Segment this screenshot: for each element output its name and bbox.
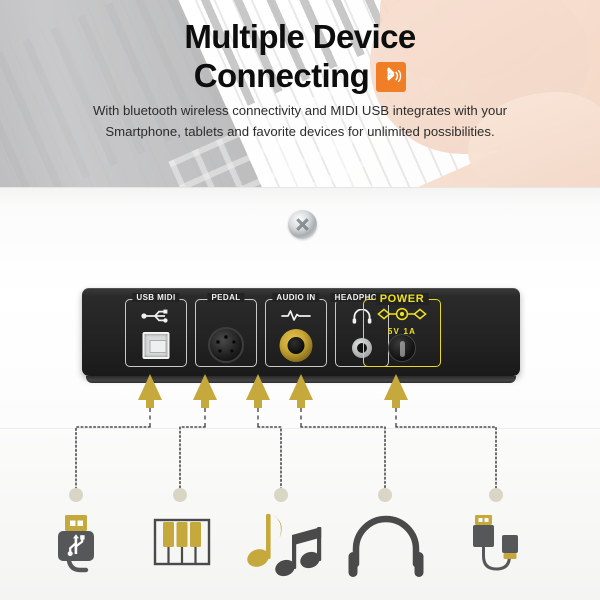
page-title: Multiple Device Connecting <box>0 18 600 95</box>
port-label-audio-in: AUDIO IN <box>272 293 319 302</box>
port-group-audio-in[interactable]: AUDIO IN <box>265 299 327 367</box>
port-label-pedal: PEDAL <box>207 293 244 302</box>
hero-subtitle: With bluetooth wireless connectivity and… <box>80 100 520 143</box>
port-label-power: POWER <box>376 293 429 305</box>
port-group-power[interactable]: POWER 5V 1A <box>363 299 441 367</box>
panel-shadow-lip <box>86 376 516 383</box>
music-notes-icon <box>238 508 328 578</box>
dc-barrel-jack[interactable] <box>388 334 416 362</box>
usb-b-jack[interactable] <box>143 332 170 359</box>
rear-jack-panel: USB MIDI PEDAL <box>82 288 520 376</box>
din-5-pin-jack[interactable] <box>208 327 244 363</box>
dc-polarity-icon <box>375 307 429 326</box>
hero-title-line-2: Connecting <box>194 57 369 94</box>
hero-title-line-1: Multiple Device <box>0 18 600 57</box>
port-group-pedal[interactable]: PEDAL <box>195 299 257 367</box>
quarter-inch-jack[interactable] <box>280 329 313 362</box>
hero-banner: Multiple Device Connecting With bluetoot… <box>0 0 600 187</box>
promo-page: Multiple Device Connecting With bluetoot… <box>0 0 600 600</box>
piano-keys-icon <box>137 512 227 582</box>
bluetooth-icon <box>376 62 406 92</box>
power-cable-icon <box>453 508 543 578</box>
port-group-usb-midi[interactable]: USB MIDI <box>125 299 187 367</box>
usb-trident-icon <box>141 309 171 328</box>
usb-connector-icon <box>31 512 121 582</box>
port-label-usb-midi: USB MIDI <box>132 293 179 302</box>
headphones-icon <box>341 512 431 582</box>
waveform-icon <box>281 309 311 327</box>
phillips-screw-icon <box>288 210 317 239</box>
